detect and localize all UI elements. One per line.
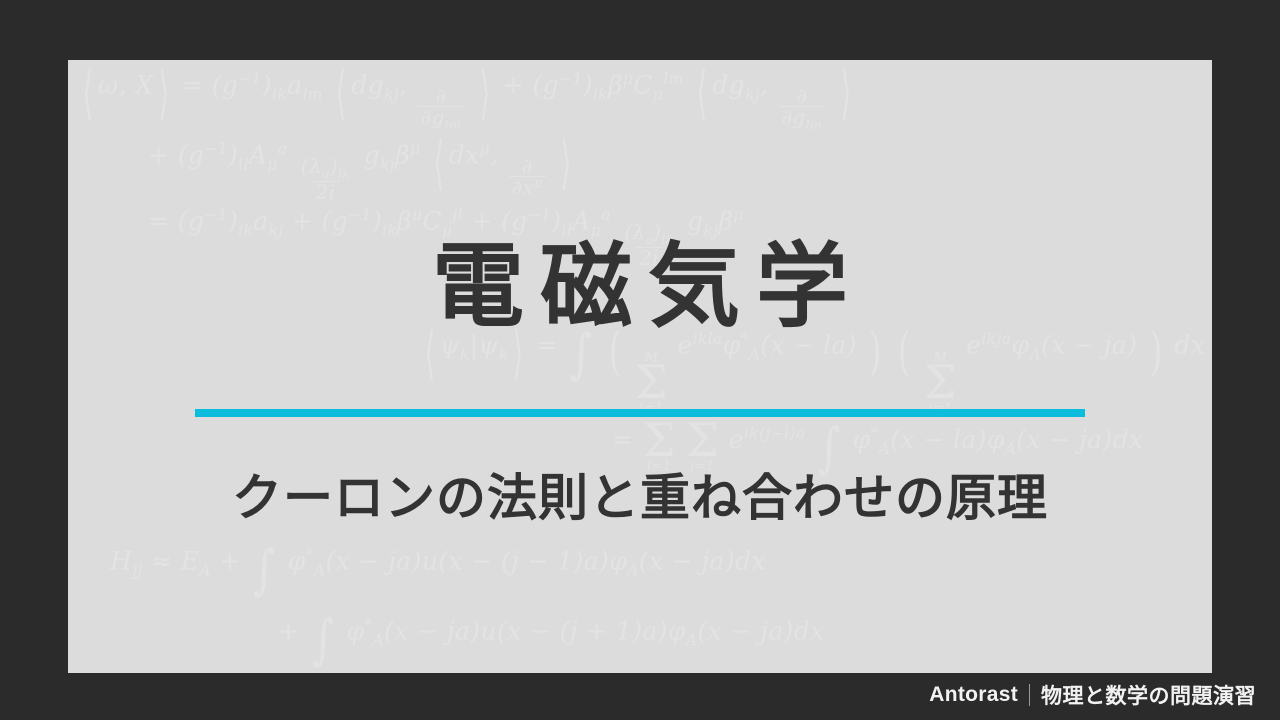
page-title: 電磁気学 bbox=[0, 238, 1280, 337]
footer-separator-icon bbox=[1029, 684, 1030, 706]
footer-credit: Antorast 物理と数学の問題演習 bbox=[929, 680, 1256, 710]
brand-name: Antorast bbox=[929, 683, 1029, 707]
slide-foreground: 電磁気学 クーロンの法則と重ね合わせの原理 Antorast 物理と数学の問題演… bbox=[0, 0, 1280, 720]
accent-divider bbox=[195, 409, 1085, 417]
slide-root: ⟨ω, X⟩ = (g−1)ikalm ⟨dgkj, ∂∂glm ⟩ + (g−… bbox=[0, 0, 1280, 720]
page-subtitle: クーロンの法則と重ね合わせの原理 bbox=[0, 468, 1280, 528]
footer-tagline: 物理と数学の問題演習 bbox=[1041, 680, 1256, 710]
